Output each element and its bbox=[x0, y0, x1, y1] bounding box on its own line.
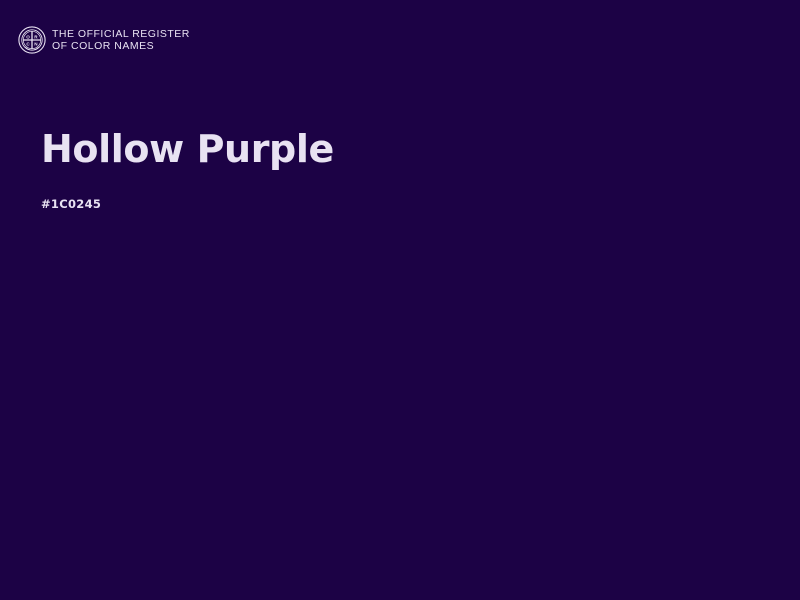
color-info-block: Hollow Purple #1C0245 bbox=[41, 128, 741, 211]
svg-text:N: N bbox=[34, 42, 38, 47]
brand-lockup[interactable]: O R C N THE OFFICIAL REGISTER OF COLOR N… bbox=[18, 26, 190, 54]
color-detail-page: O R C N THE OFFICIAL REGISTER OF COLOR N… bbox=[0, 0, 800, 600]
register-seal-icon: O R C N bbox=[18, 26, 46, 54]
brand-line-2: OF COLOR NAMES bbox=[52, 41, 190, 53]
svg-text:C: C bbox=[26, 42, 30, 47]
brand-line-1: THE OFFICIAL REGISTER bbox=[52, 29, 190, 41]
color-swatch-field bbox=[0, 240, 800, 600]
color-name: Hollow Purple bbox=[41, 128, 741, 171]
svg-text:O: O bbox=[26, 34, 30, 39]
brand-wordmark: THE OFFICIAL REGISTER OF COLOR NAMES bbox=[52, 28, 190, 53]
svg-text:R: R bbox=[34, 34, 38, 39]
color-hex-value: #1C0245 bbox=[41, 171, 741, 211]
